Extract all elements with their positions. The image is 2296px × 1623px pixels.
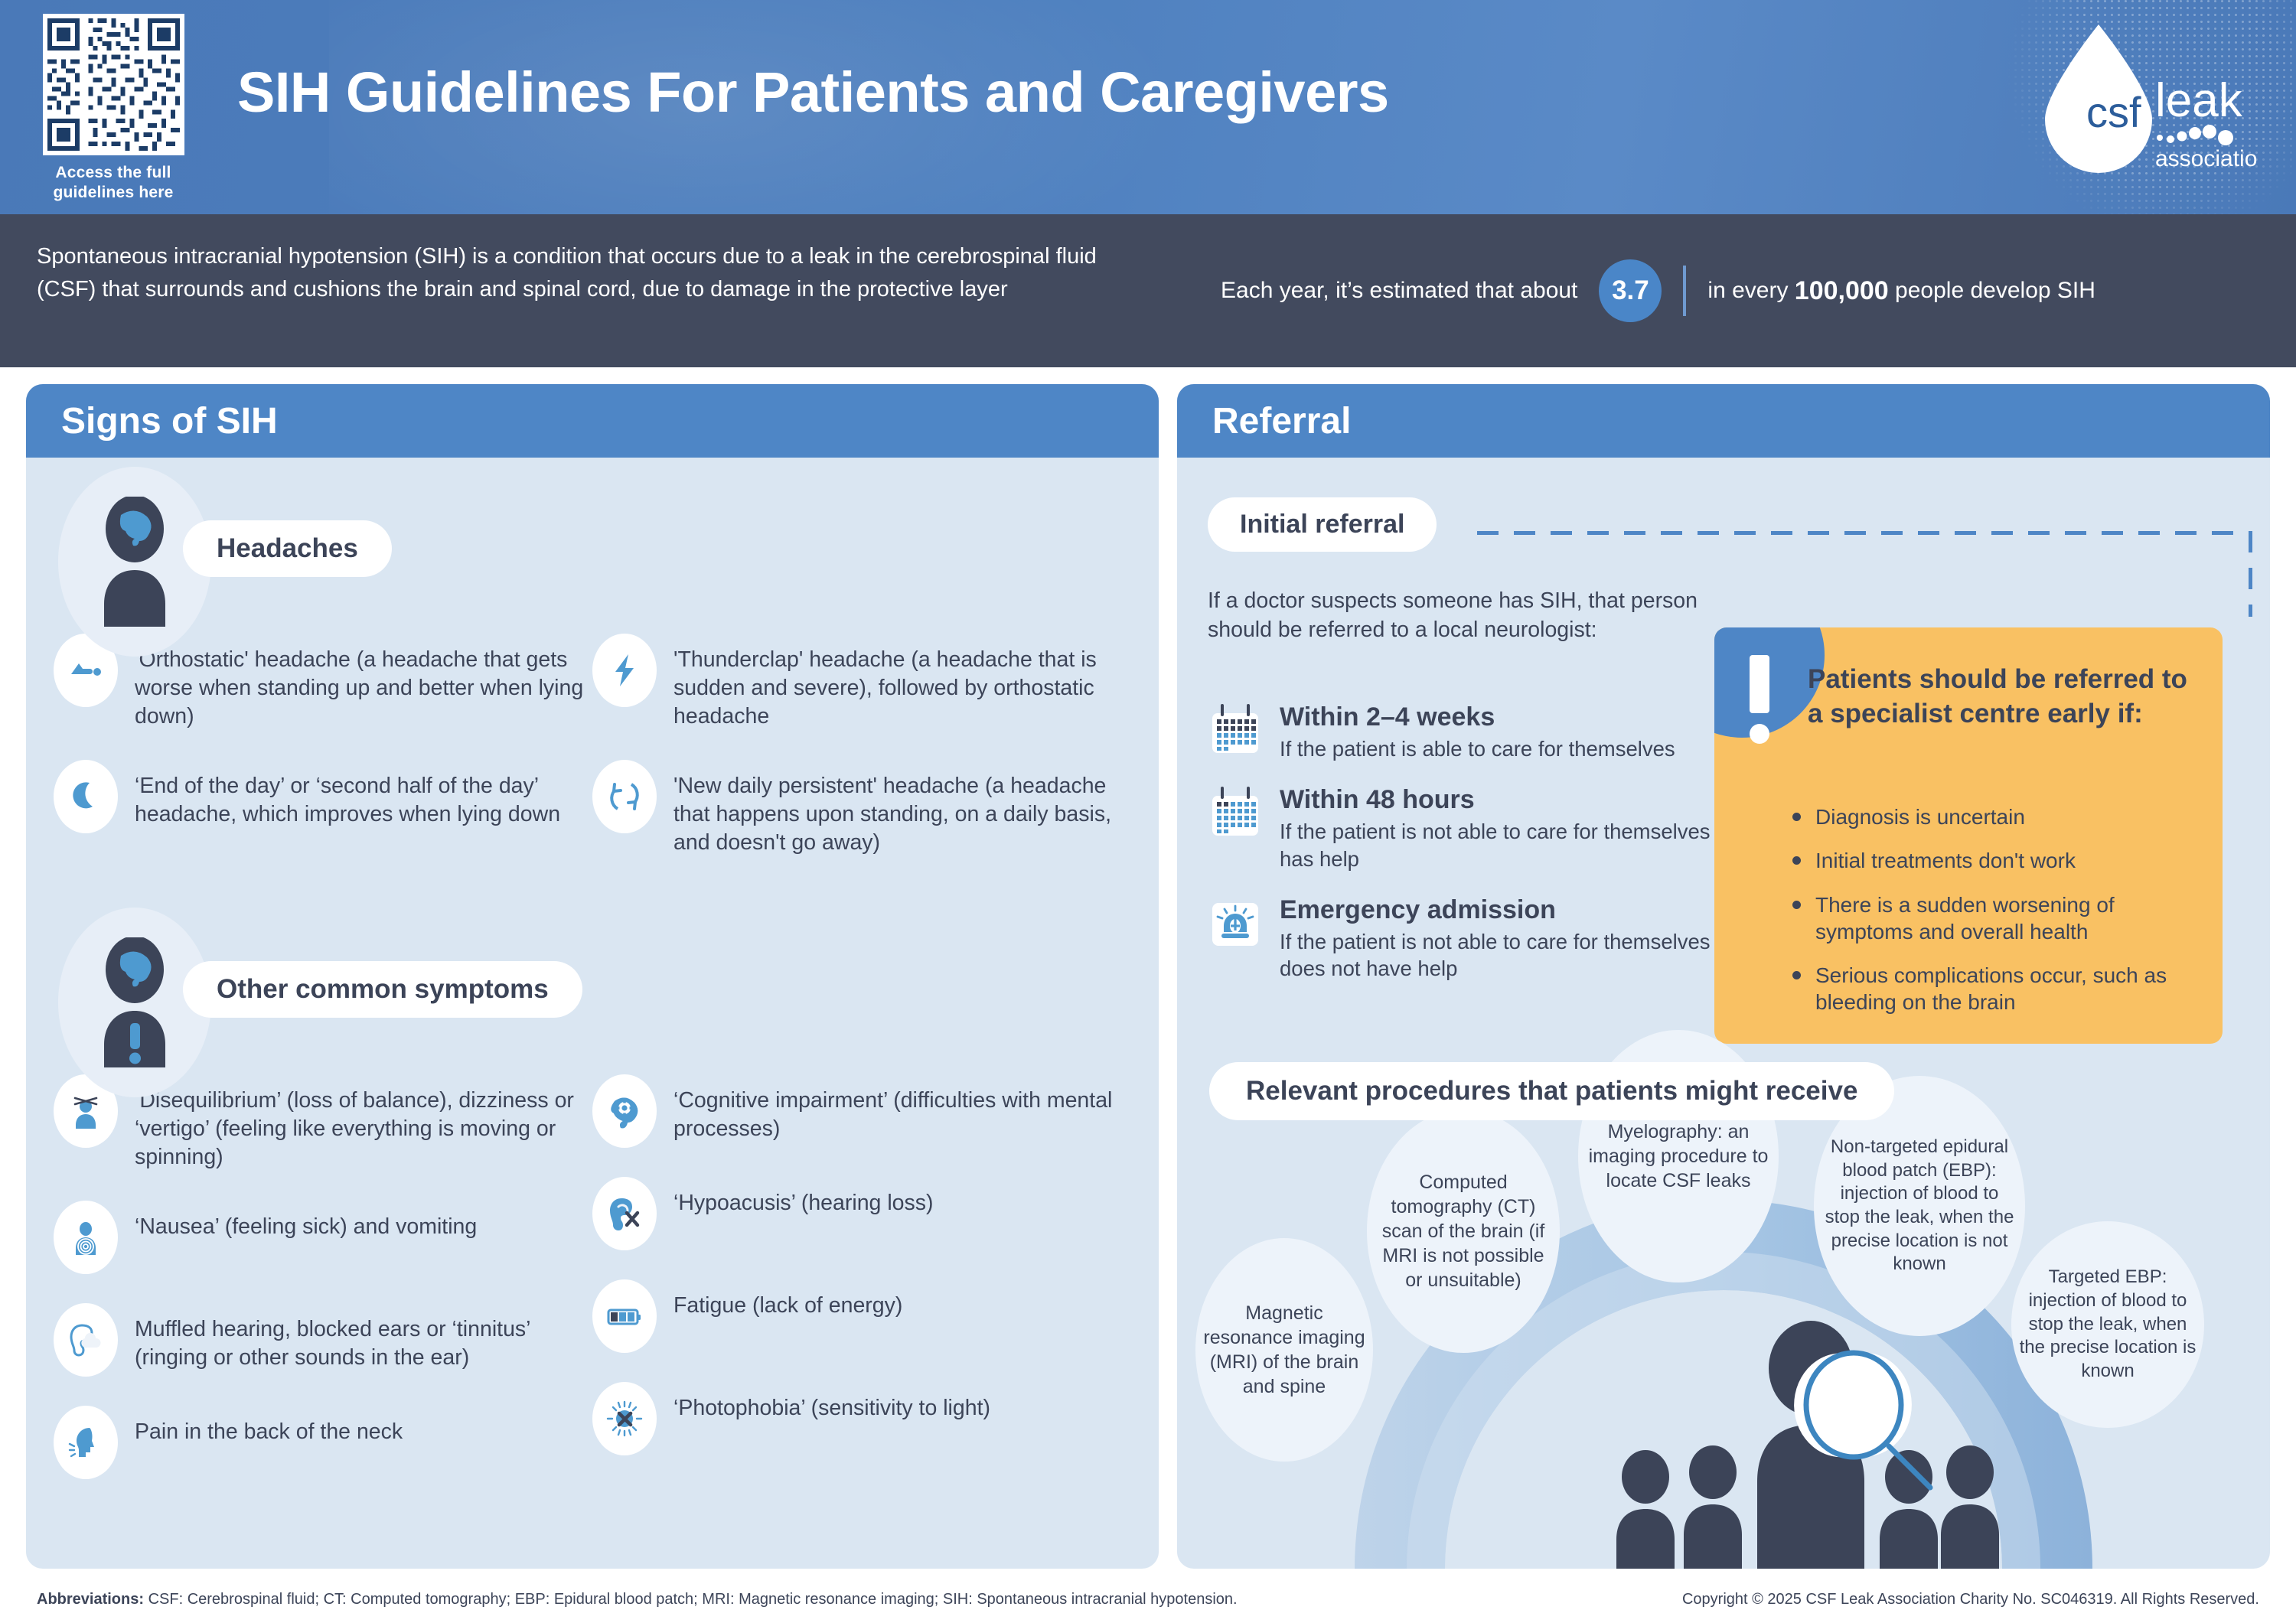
abbreviations-label: Abbreviations:: [37, 1591, 144, 1608]
headaches-group-header: Headaches: [26, 458, 1159, 634]
qr-caption: Access the full guidelines here: [37, 163, 190, 202]
infographic-page: Access the full guidelines here SIH Guid…: [0, 0, 2296, 1623]
referral-timing-detail: If the patient is not able to care for t…: [1280, 928, 1759, 982]
exclamation-icon: [1748, 655, 1771, 744]
symptom-text: Muffled hearing, blocked ears or ‘tinnit…: [135, 1303, 592, 1372]
stat-suffix: people develop SIH: [1895, 278, 2095, 304]
symptom-text: ‘Cognitive impairment’ (difficulties wit…: [673, 1074, 1131, 1143]
abbreviations-note: Abbreviations: CSF: Cerebrospinal fluid;…: [37, 1591, 1238, 1608]
procedures-illustration: Magnetic resonance imaging (MRI) of the …: [1177, 1131, 2270, 1569]
signs-of-sih-panel: Signs of SIH Headaches 'Orthostatic' hea…: [26, 384, 1159, 1569]
referral-intro-text: If a doctor suspects someone has SIH, th…: [1208, 586, 1698, 644]
ear-cloud-icon: [54, 1303, 118, 1377]
csf-leak-association-logo: csf leak association: [2028, 11, 2258, 202]
copyright-text: Copyright © 2025 CSF Leak Association Ch…: [1682, 1591, 2259, 1608]
qr-code-icon[interactable]: [43, 14, 184, 155]
referral-timing-item: Within 2–4 weeks If the patient is able …: [1208, 702, 1759, 762]
symptom-item: 'Thunderclap' headache (a headache that …: [592, 634, 1131, 731]
page-title: SIH Guidelines For Patients and Caregive…: [237, 60, 1921, 125]
exclamation-bar: [1750, 655, 1769, 713]
referral-body: Initial referral If a doctor suspects so…: [1177, 458, 2270, 1569]
symptom-item: ‘Hypoacusis’ (hearing loss): [592, 1177, 1131, 1250]
headache-column-right: 'Thunderclap' headache (a headache that …: [592, 634, 1131, 886]
stat-big-number: 100,000: [1795, 276, 1889, 306]
specialist-referral-callout: Patients should be referred to a special…: [1714, 627, 2223, 1044]
callout-heading: Patients should be referred to a special…: [1808, 663, 2200, 732]
other-column-right: ‘Cognitive impairment’ (difficulties wit…: [592, 1074, 1131, 1508]
stat-prefix: Each year, it’s estimated that about: [1221, 278, 1577, 304]
qr-caption-line1: Access the full: [37, 163, 190, 183]
referral-timing-texts: Within 48 hours If the patient is not ab…: [1280, 785, 1759, 872]
initial-referral-chip: Initial referral: [1208, 497, 1437, 552]
referral-timings-list: Within 2–4 weeks If the patient is able …: [1208, 702, 1759, 1005]
callout-bullet: Serious complications occur, such as ble…: [1788, 962, 2193, 1016]
procedures-chip-label: Relevant procedures that patients might …: [1209, 1062, 1894, 1120]
procedure-bubble: Computed tomography (CT) scan of the bra…: [1367, 1110, 1560, 1353]
page-header: Access the full guidelines here SIH Guid…: [0, 0, 2296, 214]
procedure-bubble: Targeted EBP: injection of blood to stop…: [2011, 1221, 2204, 1428]
headache-symptoms-grid: 'Orthostatic' headache (a headache that …: [26, 634, 1159, 886]
qr-block: Access the full guidelines here: [37, 14, 190, 202]
symptom-text: ‘Disequilibrium’ (loss of balance), dizz…: [135, 1074, 592, 1172]
calendar-icon: [1208, 785, 1263, 840]
symptom-item: ‘Nausea’ (feeling sick) and vomiting: [54, 1201, 592, 1274]
referral-timing-detail: If the patient is able to care for thems…: [1280, 735, 1675, 762]
referral-timing-heading: Within 2–4 weeks: [1280, 702, 1675, 732]
other-symptoms-grid: ‘Disequilibrium’ (loss of balance), dizz…: [26, 1074, 1159, 1508]
symptom-text: ‘Photophobia’ (sensitivity to light): [673, 1382, 990, 1423]
svg-text:csf: csf: [2086, 88, 2141, 136]
referral-timing-item: Within 48 hours If the patient is not ab…: [1208, 785, 1759, 872]
crescent-moon-icon: [54, 760, 118, 833]
stat-mid: in every: [1707, 278, 1788, 304]
callout-bullet: Initial treatments don't work: [1788, 847, 2193, 874]
prevalence-stat: Each year, it’s estimated that about 3.7…: [1221, 214, 2277, 367]
headache-column-left: 'Orthostatic' headache (a headache that …: [54, 634, 592, 886]
page-footer: Abbreviations: CSF: Cerebrospinal fluid;…: [0, 1578, 2296, 1623]
symptom-text: ‘Nausea’ (feeling sick) and vomiting: [135, 1201, 477, 1241]
callout-bullet-list: Diagnosis is uncertain Initial treatment…: [1788, 803, 2193, 1033]
calendar-icon: [1208, 702, 1263, 758]
symptom-text: Pain in the back of the neck: [135, 1406, 403, 1446]
referral-timing-item: Emergency admission If the patient is no…: [1208, 895, 1759, 982]
symptom-text: 'New daily persistent' headache (a heada…: [673, 760, 1131, 857]
qr-caption-line2: guidelines here: [37, 183, 190, 203]
symptom-item: ‘Photophobia’ (sensitivity to light): [592, 1382, 1131, 1455]
dashed-connector-vertical: [2249, 531, 2252, 617]
symptom-item: Muffled hearing, blocked ears or ‘tinnit…: [54, 1303, 592, 1377]
exclamation-dot: [1750, 724, 1769, 744]
callout-bullet: There is a sudden worsening of symptoms …: [1788, 891, 2193, 946]
symptom-text: ‘Hypoacusis’ (hearing loss): [673, 1177, 934, 1217]
callout-bullet: Diagnosis is uncertain: [1788, 803, 2193, 830]
symptom-item: ‘Cognitive impairment’ (difficulties wit…: [592, 1074, 1131, 1148]
referral-panel-title: Referral: [1177, 384, 2270, 458]
symptom-text: ‘End of the day’ or ‘second half of the …: [135, 760, 592, 829]
referral-timing-heading: Within 48 hours: [1280, 785, 1759, 815]
abbreviations-text: CSF: Cerebrospinal fluid; CT: Computed t…: [144, 1591, 1238, 1608]
dashed-connector-horizontal: [1477, 531, 2252, 535]
stat-divider: [1683, 266, 1686, 316]
other-symptoms-pill-label: Other common symptoms: [183, 961, 582, 1018]
intro-band: Spontaneous intracranial hypotension (SI…: [0, 214, 2296, 367]
stat-value-badge: 3.7: [1599, 259, 1662, 322]
referral-panel: Referral Initial referral If a doctor su…: [1177, 384, 2270, 1569]
symptom-item: Fatigue (lack of energy): [592, 1279, 1131, 1353]
sun-cross-icon: [592, 1382, 657, 1455]
referral-timing-detail: If the patient is not able to care for t…: [1280, 818, 1759, 872]
svg-text:leak: leak: [2155, 74, 2243, 127]
emergency-siren-icon: [1208, 895, 1263, 950]
symptom-text: Fatigue (lack of energy): [673, 1279, 902, 1320]
other-column-left: ‘Disequilibrium’ (loss of balance), dizz…: [54, 1074, 592, 1508]
refresh-cycle-icon: [592, 760, 657, 833]
referral-timing-texts: Within 2–4 weeks If the patient is able …: [1280, 702, 1675, 762]
head-neck-pain-icon: [54, 1406, 118, 1479]
nausea-person-icon: [54, 1201, 118, 1274]
symptom-text: 'Orthostatic' headache (a headache that …: [135, 634, 592, 731]
condition-description: Spontaneous intracranial hypotension (SI…: [37, 240, 1131, 305]
lightning-bolt-icon: [592, 634, 657, 707]
brain-gear-icon: [592, 1074, 657, 1148]
symptom-item: 'New daily persistent' headache (a heada…: [592, 760, 1131, 857]
symptom-text: 'Thunderclap' headache (a headache that …: [673, 634, 1131, 731]
symptom-item: Pain in the back of the neck: [54, 1406, 592, 1479]
other-symptoms-group-header: Other common symptoms: [26, 898, 1159, 1074]
symptom-item: ‘End of the day’ or ‘second half of the …: [54, 760, 592, 833]
referral-timing-heading: Emergency admission: [1280, 895, 1759, 925]
svg-text:association: association: [2155, 146, 2258, 171]
ear-cross-icon: [592, 1177, 657, 1250]
procedure-bubble: Magnetic resonance imaging (MRI) of the …: [1195, 1238, 1373, 1462]
battery-icon: [592, 1279, 657, 1353]
signs-panel-title: Signs of SIH: [26, 384, 1159, 458]
headaches-pill-label: Headaches: [183, 520, 392, 577]
referral-timing-texts: Emergency admission If the patient is no…: [1280, 895, 1759, 982]
